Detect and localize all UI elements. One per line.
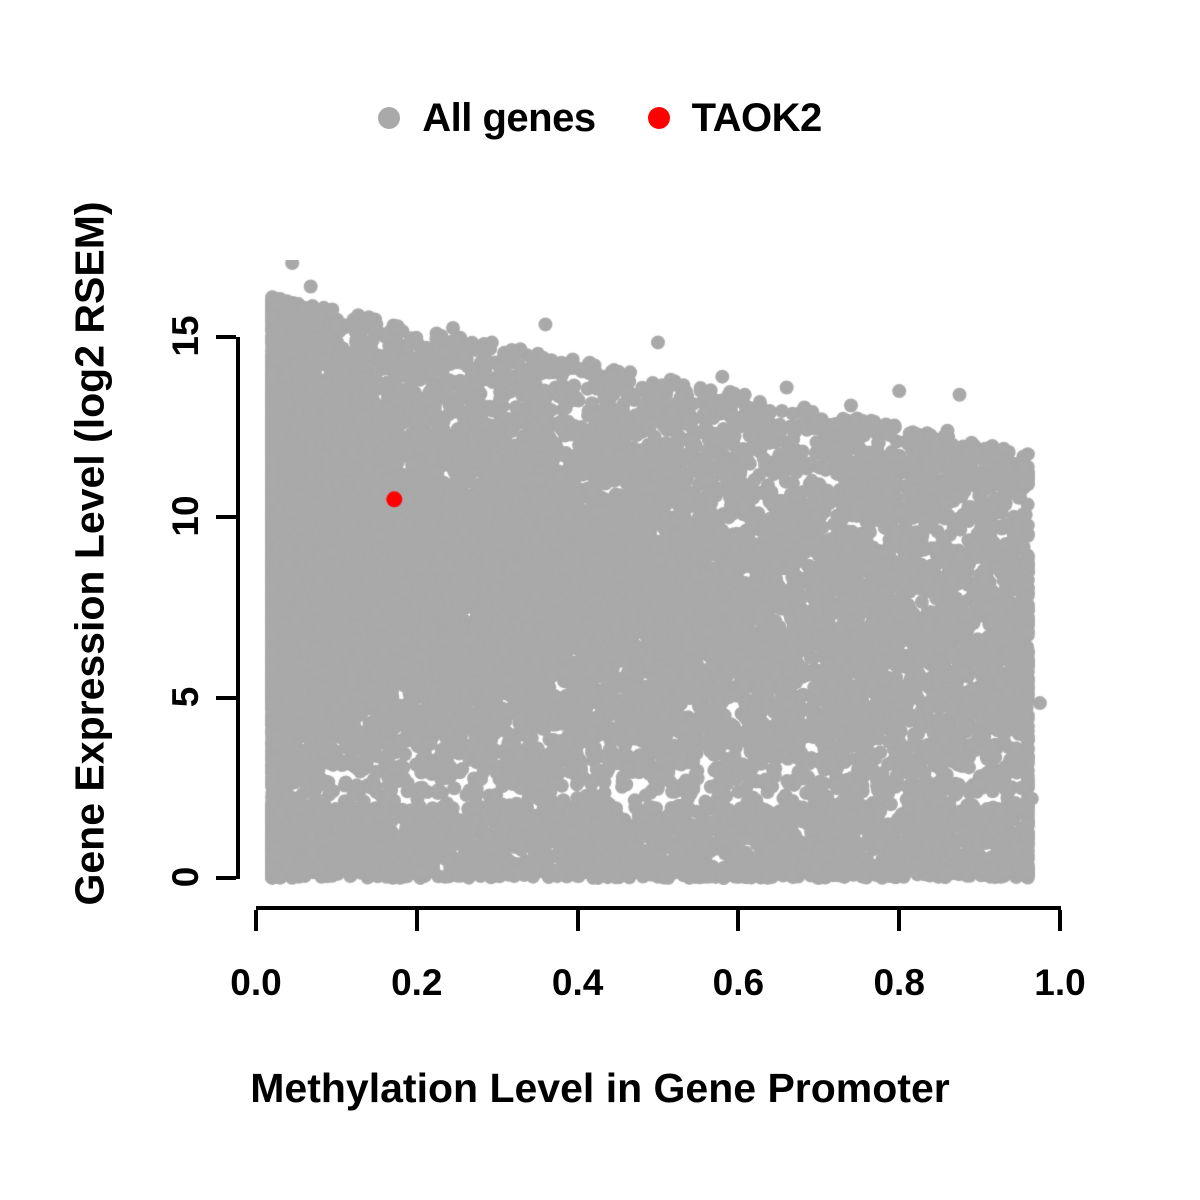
y-axis-line [236,337,240,879]
x-tick [897,910,901,931]
x-tick [736,910,740,931]
y-tick [216,335,236,339]
y-tick [216,515,236,519]
plot-area [256,260,1060,885]
x-axis-title: Methylation Level in Gene Promoter [0,1065,1200,1112]
y-axis-title: Gene Expression Level (log2 RSEM) [67,124,114,984]
x-tick-label: 0.4 [518,962,638,1004]
y-tick-label: 15 [165,306,207,366]
legend-item-taok2: TAOK2 [648,96,822,141]
scatter-canvas [256,260,1060,885]
scatter-plot-figure: All genes TAOK2 0510150.00.20.40.60.81.0… [0,0,1200,1200]
y-tick-label: 0 [165,847,207,907]
x-tick-label: 0.0 [196,962,316,1004]
y-tick-label: 5 [165,667,207,727]
y-tick [216,876,236,880]
legend-label-all-genes: All genes [422,96,595,141]
legend-label-taok2: TAOK2 [692,96,822,141]
y-tick [216,696,236,700]
x-tick-label: 0.2 [357,962,477,1004]
red-dot-icon [648,107,670,129]
x-tick [576,910,580,931]
legend-item-all-genes: All genes [378,96,595,141]
y-tick-label: 10 [165,486,207,546]
x-tick-label: 1.0 [1000,962,1120,1004]
x-tick-label: 0.6 [678,962,798,1004]
chart-legend: All genes TAOK2 [0,88,1200,148]
gray-dot-icon [378,107,400,129]
x-tick [1058,910,1062,931]
x-tick [254,910,258,931]
x-axis-line [256,906,1061,910]
x-tick [415,910,419,931]
x-tick-label: 0.8 [839,962,959,1004]
